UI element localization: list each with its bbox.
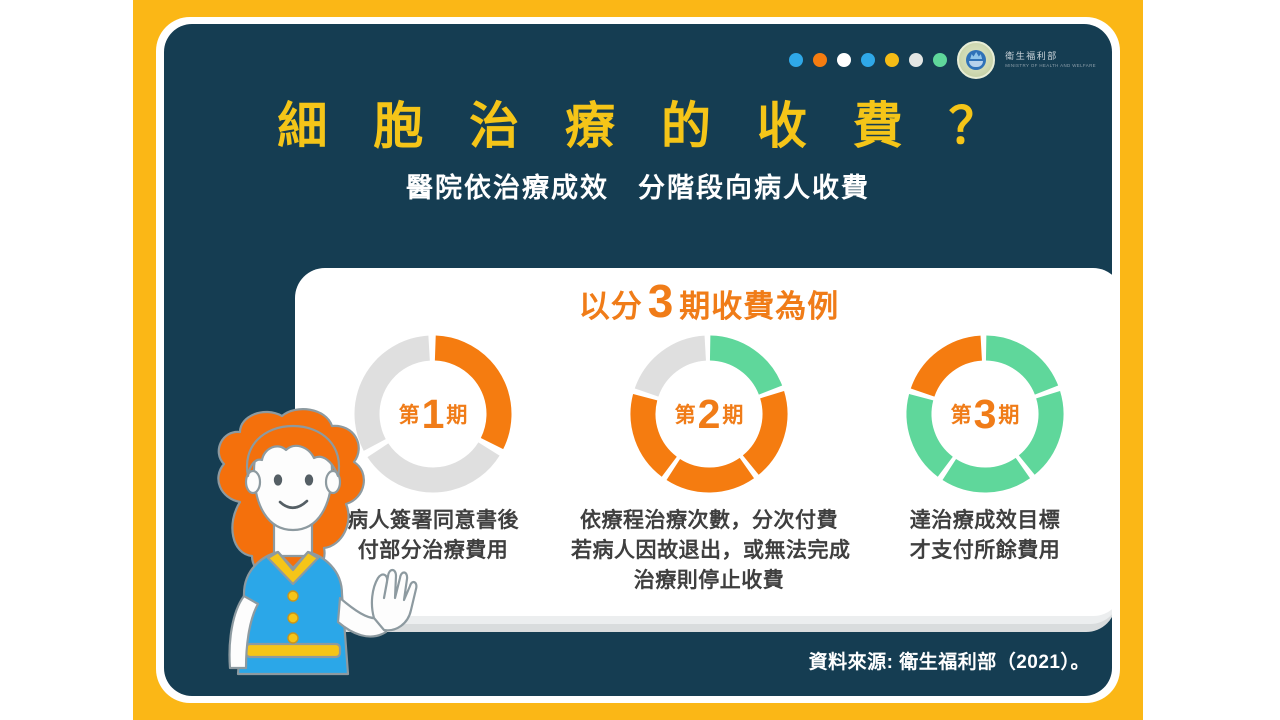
- donut-label-suffix-1: 期: [446, 399, 467, 429]
- button-2-icon: [288, 613, 298, 623]
- dot-blue-icon: [789, 53, 803, 67]
- header-decoration-row: 衛生福利部 MINISTRY OF HEALTH AND WELFARE: [789, 41, 1096, 79]
- presenter-svg: [182, 406, 422, 696]
- dot-gray-icon: [909, 53, 923, 67]
- dress-buttons: [288, 591, 298, 643]
- button-3-icon: [288, 633, 298, 643]
- caption-stage-3-line-2: 才支付所餘費用: [847, 536, 1112, 566]
- card-heading-number: 3: [648, 278, 675, 324]
- card-heading-prefix: 以分: [579, 281, 643, 326]
- donut-label-number-1: 1: [422, 394, 445, 435]
- donut-label-number-2: 2: [698, 394, 721, 435]
- dot-green-icon: [933, 53, 947, 67]
- donut-label-number-3: 3: [974, 394, 997, 435]
- ministry-crest-icon: [966, 50, 986, 70]
- eye-left-icon: [274, 474, 282, 485]
- donut-label-suffix-2: 期: [722, 399, 743, 429]
- page-subtitle: 醫院依治療成效 分階段向病人收費: [164, 166, 1112, 205]
- donut-label-stage-3: 第 3 期: [901, 330, 1069, 498]
- ministry-name-zh: 衛生福利部: [1005, 52, 1096, 61]
- ministry-logo-text: 衛生福利部 MINISTRY OF HEALTH AND WELFARE: [1005, 52, 1096, 68]
- slide-panel: 衛生福利部 MINISTRY OF HEALTH AND WELFARE 細 胞…: [164, 24, 1112, 696]
- button-1-icon: [288, 591, 298, 601]
- dot-blue-2-icon: [861, 53, 875, 67]
- donut-label-stage-2: 第 2 期: [625, 330, 793, 498]
- dot-orange-icon: [813, 53, 827, 67]
- slide-stage: 衛生福利部 MINISTRY OF HEALTH AND WELFARE 細 胞…: [0, 0, 1280, 720]
- caption-stage-2: 依療程治療次數，分次付費 若病人因故退出，或無法完成 治療則停止收費: [571, 506, 847, 595]
- donut-wrap-stage-2: 第 2 期: [621, 330, 797, 498]
- caption-stage-2-line-2: 若病人因故退出，或無法完成: [571, 536, 847, 566]
- presenter-illustration: [182, 406, 422, 696]
- belt-icon: [246, 644, 340, 657]
- hand-icon: [372, 570, 416, 630]
- donut-chart-stage-2: 第 2 期: [625, 330, 793, 498]
- ministry-name-en: MINISTRY OF HEALTH AND WELFARE: [1005, 64, 1096, 68]
- source-note: 資料來源: 衛生福利部（2021）。: [809, 647, 1090, 674]
- donut-label-prefix-3: 第: [951, 399, 972, 429]
- page-title: 細 胞 治 療 的 收 費 ？: [164, 86, 1112, 158]
- ministry-emblem-icon: [957, 41, 995, 79]
- eye-right-icon: [305, 474, 313, 485]
- donut-wrap-stage-3: 第 3 期: [897, 330, 1073, 498]
- donut-label-prefix-2: 第: [675, 399, 696, 429]
- card-heading: 以分 3 期收費為例: [295, 278, 1112, 326]
- dot-white-icon: [837, 53, 851, 67]
- caption-stage-3: 達治療成效目標 才支付所餘費用: [847, 506, 1112, 566]
- caption-stage-3-line-1: 達治療成效目標: [847, 506, 1112, 536]
- caption-stage-2-line-3: 治療則停止收費: [571, 566, 847, 596]
- dot-gold-icon: [885, 53, 899, 67]
- donut-label-suffix-3: 期: [998, 399, 1019, 429]
- caption-stage-2-line-1: 依療程治療次數，分次付費: [571, 506, 847, 536]
- donut-chart-stage-3: 第 3 期: [901, 330, 1069, 498]
- card-heading-suffix: 期收費為例: [679, 281, 839, 326]
